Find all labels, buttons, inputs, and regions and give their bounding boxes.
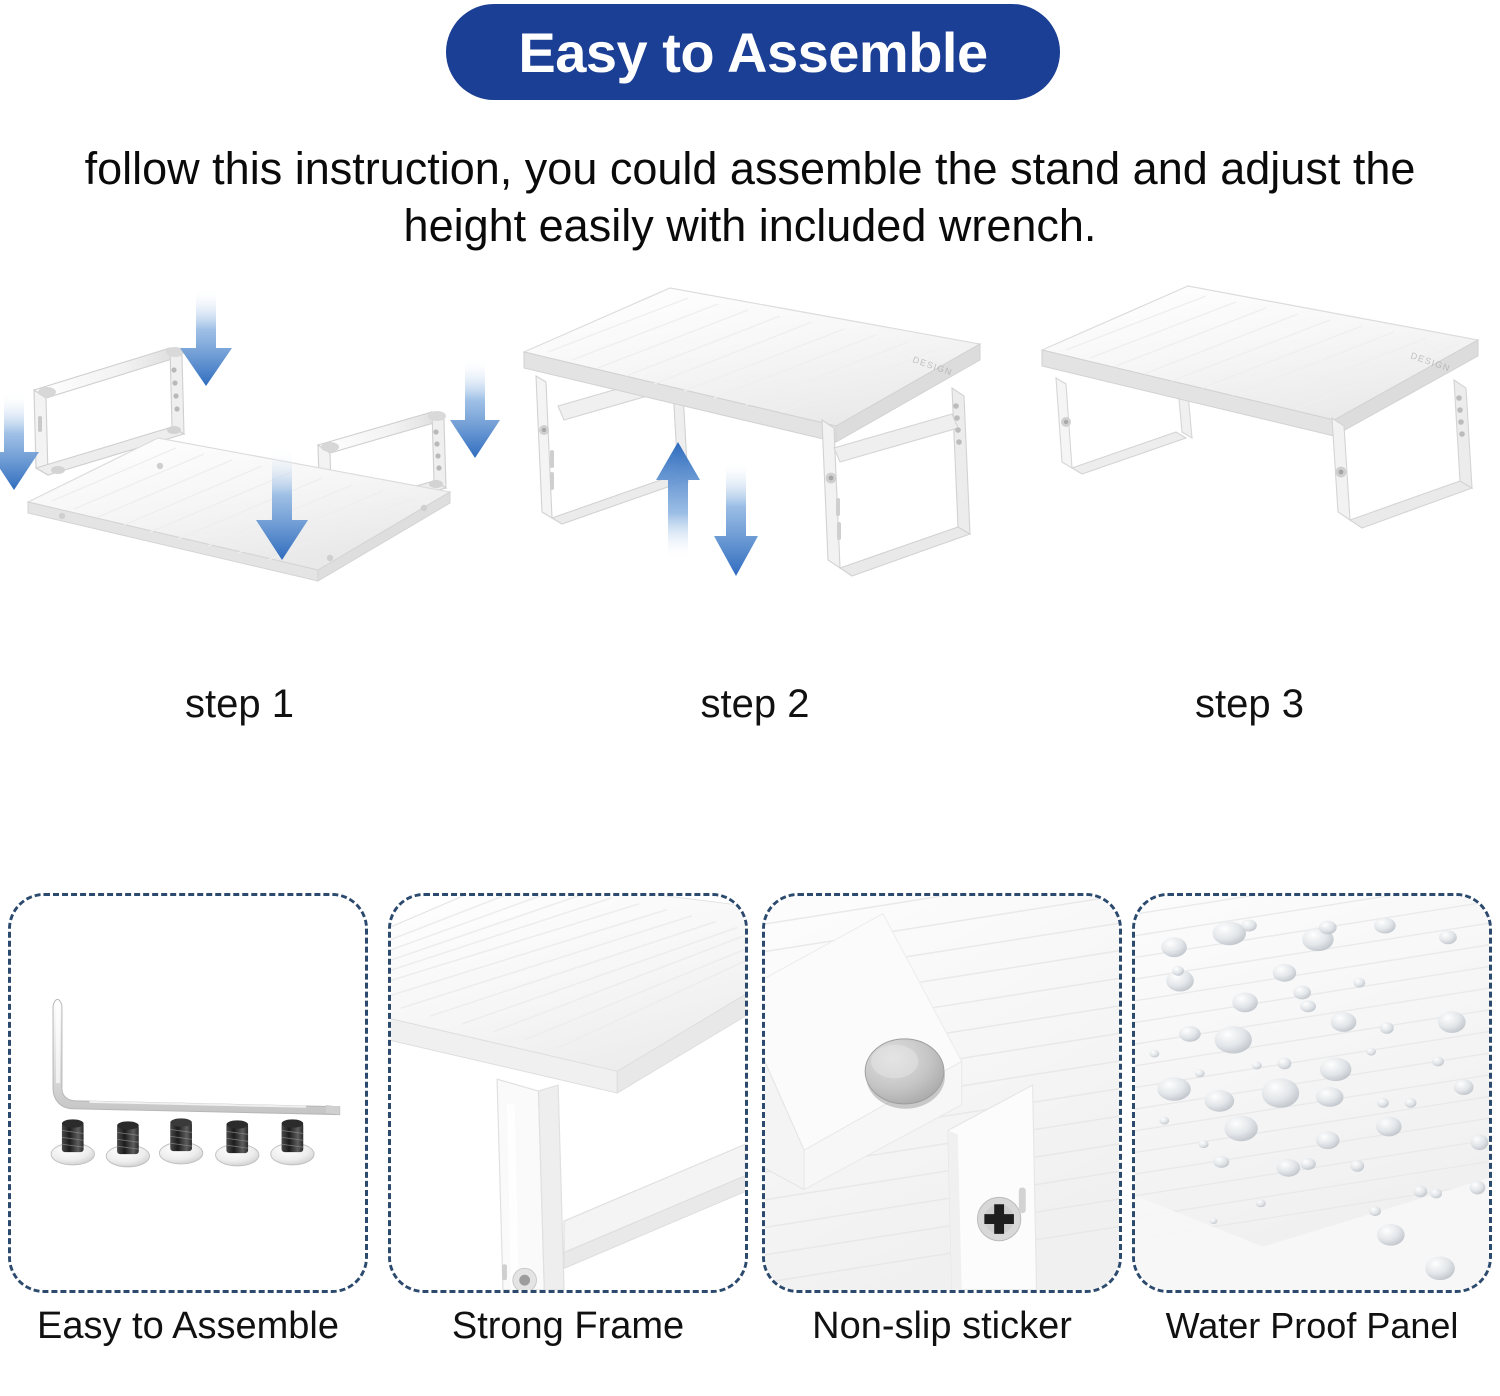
features-row: Easy to Assemble [0,893,1500,1396]
step-3: DESIGN [1010,270,1500,750]
feature-2-caption: Strong Frame [382,1305,754,1348]
final-top-panel: DESIGN [1042,286,1478,436]
feature-4-caption: Water Proof Panel [1126,1305,1498,1347]
feature-1-image [8,893,368,1293]
feature-easy-to-assemble: Easy to Assemble [8,893,368,1293]
non-slip-sticker-pad [865,1039,945,1109]
frame-leg [497,1079,564,1290]
step-2-label: step 2 [500,682,1010,727]
feature-strong-frame: Strong Frame [388,893,748,1293]
step-2: DESIGN [500,270,1010,750]
header-subtitle: follow this instruction, you could assem… [70,140,1430,254]
infographic-page: Easy to Assemble follow this instruction… [0,0,1500,1396]
step-2-illustration: DESIGN [500,270,1010,680]
feature-non-slip-sticker: Non-slip sticker [762,893,1122,1293]
steps-row: step 1 [0,270,1500,750]
feature-3-image [762,893,1122,1293]
header-badge: Easy to Assemble [446,4,1060,100]
header-badge-label: Easy to Assemble [518,20,987,85]
feature-4-image [1132,893,1492,1293]
step-1: step 1 [0,270,500,750]
step-3-illustration: DESIGN [1010,270,1500,680]
feature-2-image [388,893,748,1293]
step-1-label: step 1 [0,682,500,727]
feature-1-caption: Easy to Assemble [2,1305,374,1348]
height-adjust-arrows [656,442,758,576]
step-1-illustration [0,270,500,680]
stand-top-panel: DESIGN [524,288,980,442]
feature-water-proof-panel: Water Proof Panel [1132,893,1492,1293]
step-3-label: step 3 [1010,682,1500,727]
feature-3-caption: Non-slip sticker [756,1305,1128,1348]
